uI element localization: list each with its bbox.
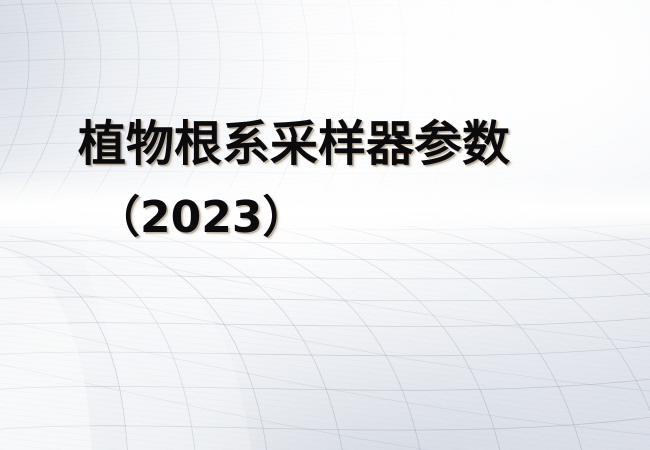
title-slide: 植物根系采样器参数 （2023） — [0, 0, 650, 450]
slide-title-year: （2023） — [0, 196, 650, 248]
slide-title-line-1: 植物根系采样器参数 — [0, 120, 650, 176]
title-block: 植物根系采样器参数 （2023） — [0, 120, 650, 248]
